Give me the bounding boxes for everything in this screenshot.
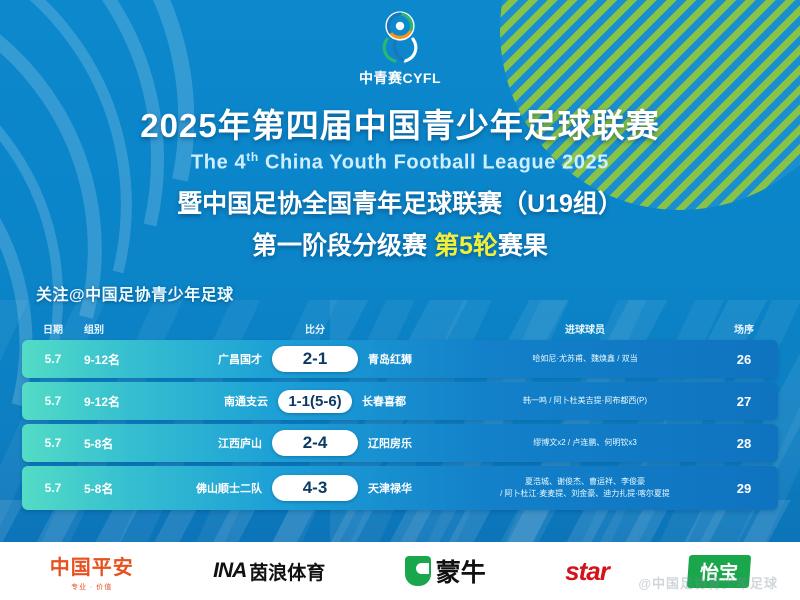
cyfl-emblem-icon <box>369 8 431 66</box>
title-block: 2025年第四届中国青少年足球联赛 The 4th China Youth Fo… <box>0 108 800 262</box>
table-row[interactable]: 5.7 5-8名 佛山顺士二队 4-3 天津禄华 夏浩城、谢俊杰、曹运祥、李俊豪… <box>22 466 778 510</box>
cell-scorers: 韩一鸣 / 阿卜杜美吉提·阿布都西(P) <box>460 395 710 407</box>
results-label: 赛果 <box>498 232 548 260</box>
away-team: 辽阳房乐 <box>368 435 456 451</box>
english-title: The 4th China Youth Football League 2025 <box>0 150 800 175</box>
subtitle-line-2: 第一阶段分级赛 第5轮赛果 <box>0 226 800 262</box>
cell-group: 5-8名 <box>84 480 170 497</box>
cell-date: 5.7 <box>22 481 84 495</box>
english-title-pre: The 4 <box>191 152 246 174</box>
round-highlight: 第5轮 <box>434 232 498 260</box>
logo-text: 中青赛CYFL <box>359 68 441 88</box>
table-row[interactable]: 5.7 9-12名 广昌国才 2-1 青岛红狮 哈如尼·尤苏甫、魏焕鑫 / 双当… <box>22 340 778 378</box>
sponsor-star: star <box>565 556 609 587</box>
cell-match: 广昌国才 2-1 青岛红狮 <box>170 346 460 372</box>
results-table: 日期 组别 比分 进球球员 场序 5.7 9-12名 广昌国才 2-1 青岛红狮… <box>22 316 778 514</box>
cell-scorers: 夏浩城、谢俊杰、曹运祥、李俊豪 / 阿卜杜江·麦麦提、刘金豪、迪力扎提·喀尔夏提 <box>460 476 710 499</box>
home-team: 广昌国才 <box>174 351 262 367</box>
sponsor-ina-name: 茵浪体育 <box>249 558 325 585</box>
sponsor-ina-latin: INA <box>213 559 246 583</box>
cell-group: 5-8名 <box>84 435 170 452</box>
score-badge: 2-1 <box>272 346 358 372</box>
cell-match: 江西庐山 2-4 辽阳房乐 <box>170 430 460 456</box>
home-team: 江西庐山 <box>174 435 262 451</box>
poster-root: 中青赛CYFL 2025年第四届中国青少年足球联赛 The 4th China … <box>0 0 800 600</box>
sponsor-ina: INA 茵浪体育 <box>213 558 325 585</box>
cell-order: 27 <box>710 394 778 409</box>
sponsor-mengniu-name: 蒙牛 <box>436 553 486 589</box>
table-row[interactable]: 5.7 5-8名 江西庐山 2-4 辽阳房乐 缪博文x2 / 卢连鹏、何明钦x3… <box>22 424 778 462</box>
english-title-post: China Youth Football League 2025 <box>265 152 609 174</box>
cell-scorers: 缪博文x2 / 卢连鹏、何明钦x3 <box>460 437 710 449</box>
cell-group: 9-12名 <box>84 393 170 410</box>
stage-label: 第一阶段分级赛 <box>252 232 427 260</box>
header-date: 日期 <box>22 321 84 336</box>
cell-date: 5.7 <box>22 352 84 366</box>
score-badge: 1-1(5-6) <box>278 390 352 413</box>
header-order: 场序 <box>710 321 778 336</box>
page-title: 2025年第四届中国青少年足球联赛 <box>0 108 800 145</box>
cell-order: 28 <box>710 436 778 451</box>
away-team: 青岛红狮 <box>368 351 456 367</box>
sponsor-mengniu: 蒙牛 <box>405 553 486 589</box>
header-group: 组别 <box>84 321 170 336</box>
header-score: 比分 <box>170 321 460 336</box>
cell-date: 5.7 <box>22 394 84 408</box>
cell-group: 9-12名 <box>84 351 170 368</box>
league-logo: 中青赛CYFL <box>0 8 800 94</box>
sponsor-pingan: 中国平安 专业 · 价值 <box>50 551 134 592</box>
cell-match: 佛山顺士二队 4-3 天津禄华 <box>170 475 460 501</box>
home-team: 佛山顺士二队 <box>174 480 262 496</box>
cell-match: 南通支云 1-1(5-6) 长春喜都 <box>170 390 460 413</box>
cell-order: 26 <box>710 352 778 367</box>
sponsor-pingan-tagline: 专业 · 价值 <box>71 582 112 592</box>
away-team: 天津禄华 <box>368 480 456 496</box>
english-title-ordinal: th <box>246 150 259 164</box>
sponsor-pingan-name: 中国平安 <box>50 551 134 580</box>
cell-scorers: 哈如尼·尤苏甫、魏焕鑫 / 双当 <box>460 353 710 365</box>
table-row[interactable]: 5.7 9-12名 南通支云 1-1(5-6) 长春喜都 韩一鸣 / 阿卜杜美吉… <box>22 382 778 420</box>
watermark: @中国足协青少年足球 <box>638 573 778 592</box>
away-team: 长春喜都 <box>362 393 450 409</box>
mengniu-logo-icon <box>405 556 431 586</box>
cell-date: 5.7 <box>22 436 84 450</box>
follow-handle: 关注@中国足协青少年足球 <box>36 281 234 305</box>
score-badge: 4-3 <box>272 475 358 501</box>
score-badge: 2-4 <box>272 430 358 456</box>
home-team: 南通支云 <box>180 393 268 409</box>
cell-order: 29 <box>710 481 778 496</box>
header-scorers: 进球球员 <box>460 321 710 336</box>
table-header-row: 日期 组别 比分 进球球员 场序 <box>22 316 778 340</box>
subtitle-line-1: 暨中国足协全国青年足球联赛（U19组） <box>0 184 800 220</box>
